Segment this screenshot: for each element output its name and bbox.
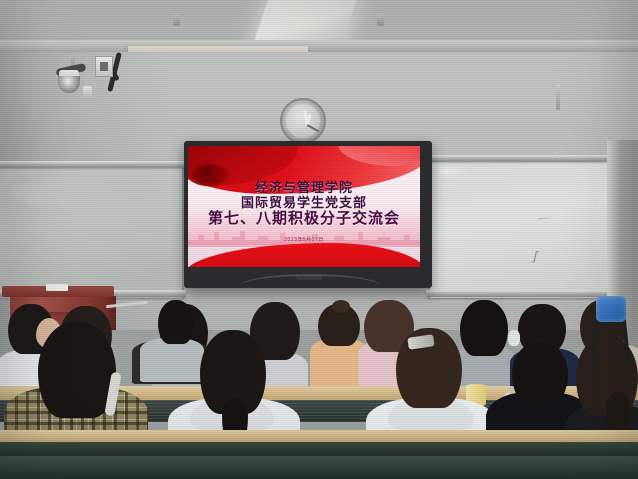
ceiling-hook [377,14,384,26]
person-vest [140,338,204,382]
clock-face [286,104,320,138]
board-marking: ʃ [532,248,538,263]
slide-line-2: 国际贸易学生党支部 [188,195,420,210]
whiteboard-right: ~~· ʃ [428,160,612,300]
slide-line-3: 第七、八期积极分子交流会 [188,210,420,229]
lectern-top [2,286,114,297]
board-rail [0,161,186,168]
blue-chair-back[interactable] [596,296,626,322]
person-hair [460,300,508,356]
slide-date: 2023年5月17日 [188,236,420,243]
display-screen: 经济与管理学院 国际贸易学生党支部 第七、八期积极分子交流会 2023年5月17… [188,146,420,267]
desk-surface [0,430,638,442]
classroom-photo: ~~· ʃ 经济与管理学院 国际贸易学生党支部 第七、八期积极分子交流会 202… [0,0,638,479]
slide-text-block: 经济与管理学院 国际贸易学生党支部 第七、八期积极分子交流会 2023年5月17… [188,180,420,243]
lectern-paper [46,284,68,291]
wall-conduit [556,84,560,110]
board-rail [426,290,612,297]
wall-speaker-box [95,56,113,77]
bench-seat [0,456,638,479]
ceiling-hook [173,14,180,26]
board-rail [426,155,612,162]
chalkboard-left [0,166,184,300]
person-hair [512,342,568,404]
person-hair [38,322,116,418]
person-hair-bun [332,300,350,313]
clock-second-hand [307,124,320,132]
person-face-mask [508,330,520,346]
wall-speaker [83,86,92,100]
board-glare [12,178,132,208]
person-hair [158,300,194,344]
board-glare [438,168,468,176]
slide-line-1: 经济与管理学院 [188,180,420,195]
fluorescent-ceiling-light-icon [253,0,359,45]
desk-front-panel [0,442,638,456]
board-marking: ~~· [537,213,550,224]
wall-clock-icon [280,98,326,144]
presentation-display[interactable]: 经济与管理学院 国际贸易学生党支部 第七、八期积极分子交流会 2023年5月17… [184,141,432,288]
